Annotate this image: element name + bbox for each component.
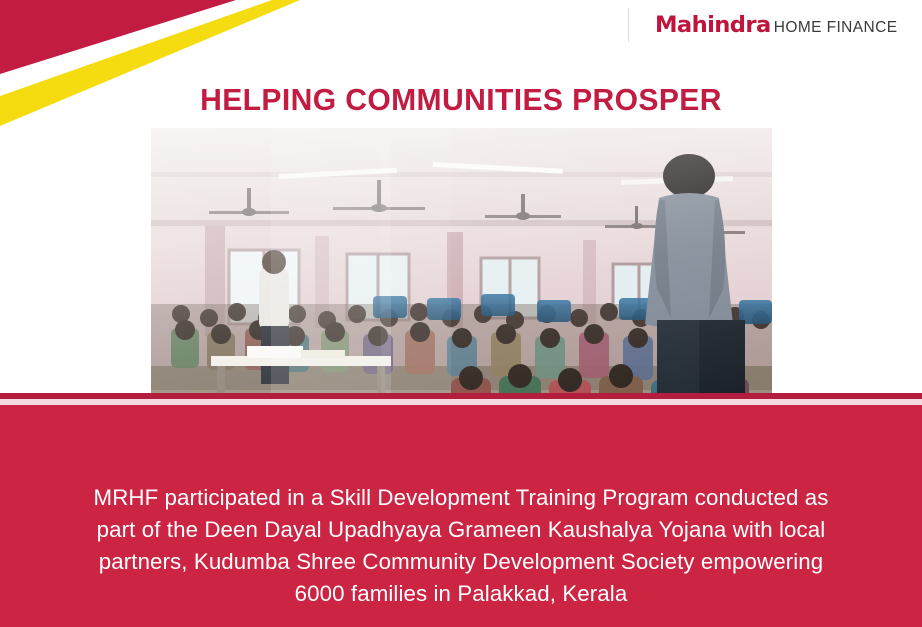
poster-canvas: Mahindra HOME FINANCE HELPING COMMUNITIE… [0, 0, 922, 627]
mahindra-wordmark: Mahindra [655, 15, 771, 37]
crimson-corner-triangle [0, 0, 236, 74]
caption-line-4: 6000 families in Palakkad, Kerala [38, 578, 883, 610]
page-title: HELPING COMMUNITIES PROSPER [14, 82, 908, 118]
caption-line-2: part of the Deen Dayal Upadhyaya Grameen… [38, 514, 883, 546]
brand-header: Mahindra HOME FINANCE [622, 0, 922, 52]
mahindra-home-finance-logo: Mahindra HOME FINANCE [655, 15, 898, 37]
caption-line-3: partners, Kudumba Shree Community Develo… [38, 546, 883, 578]
home-finance-label: HOME FINANCE [774, 20, 898, 36]
caption-block: MRHF participated in a Skill Development… [5, 482, 918, 610]
caption-line-1: MRHF participated in a Skill Development… [38, 482, 883, 514]
logo-divider-line [628, 8, 629, 42]
